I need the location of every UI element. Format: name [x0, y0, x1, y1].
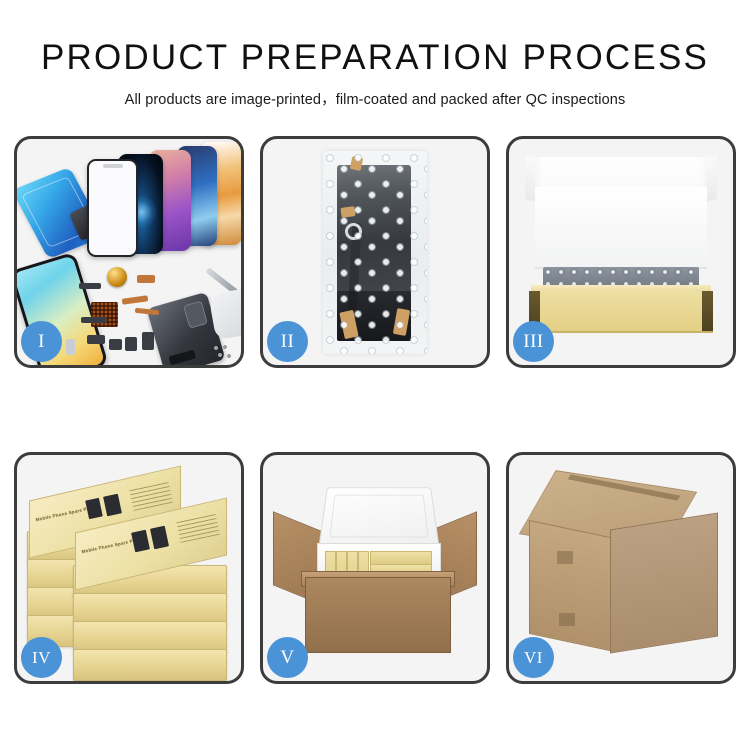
logic-board-chip [91, 302, 118, 327]
process-steps-grid: I II [14, 136, 736, 684]
step-badge-1: I [21, 321, 62, 362]
page-title: PRODUCT PREPARATION PROCESS [0, 40, 750, 77]
step-panel-4: Mobile Phone Spare Parts Mobile Phone Sp… [14, 452, 244, 684]
flex-cable-2 [122, 295, 149, 305]
spare-part-antenna [81, 317, 107, 323]
step-badge-2: II [267, 321, 308, 362]
bubble-texture [323, 151, 427, 354]
step-panel-1: I [14, 136, 244, 368]
step-panel-6: VI [506, 452, 736, 684]
screws-group [213, 345, 233, 361]
flex-cable-1 [137, 275, 155, 283]
spare-part-speaker [125, 337, 137, 351]
step-panel-2: II [260, 136, 490, 368]
inner-yellow-box-5 [370, 551, 432, 565]
spare-part-strip [79, 283, 101, 289]
step-badge-5: V [267, 637, 308, 678]
carton-flap-tab-top [557, 551, 573, 564]
header: PRODUCT PREPARATION PROCESS All products… [0, 0, 750, 109]
carton-body [305, 577, 451, 653]
stacked-box-8 [73, 649, 227, 681]
vibration-motor-part [107, 267, 127, 287]
carton-right-face [610, 512, 718, 653]
spare-part-connector [87, 335, 105, 344]
step-panel-3: III [506, 136, 736, 368]
foam-box-lid [318, 487, 439, 547]
spare-part-button [142, 332, 154, 350]
carton-flap-tab-bottom [559, 613, 575, 626]
foam-padding-sheet [535, 187, 707, 267]
box-side-right [702, 291, 713, 331]
page-subtitle: All products are image-printed，film-coat… [0, 88, 750, 109]
sim-tray-part [66, 339, 75, 355]
product-preparation-infographic: PRODUCT PREPARATION PROCESS All products… [0, 0, 750, 750]
step-badge-6: VI [513, 637, 554, 678]
carton-left-face [529, 520, 615, 652]
tempered-glass-panel [87, 159, 138, 257]
step-panel-5: V [260, 452, 490, 684]
step-badge-3: III [513, 321, 554, 362]
yellow-box-front [529, 291, 713, 333]
step-badge-4: IV [21, 637, 62, 678]
bubble-wrap-bag [323, 151, 427, 354]
spare-part-bracket [109, 339, 122, 350]
